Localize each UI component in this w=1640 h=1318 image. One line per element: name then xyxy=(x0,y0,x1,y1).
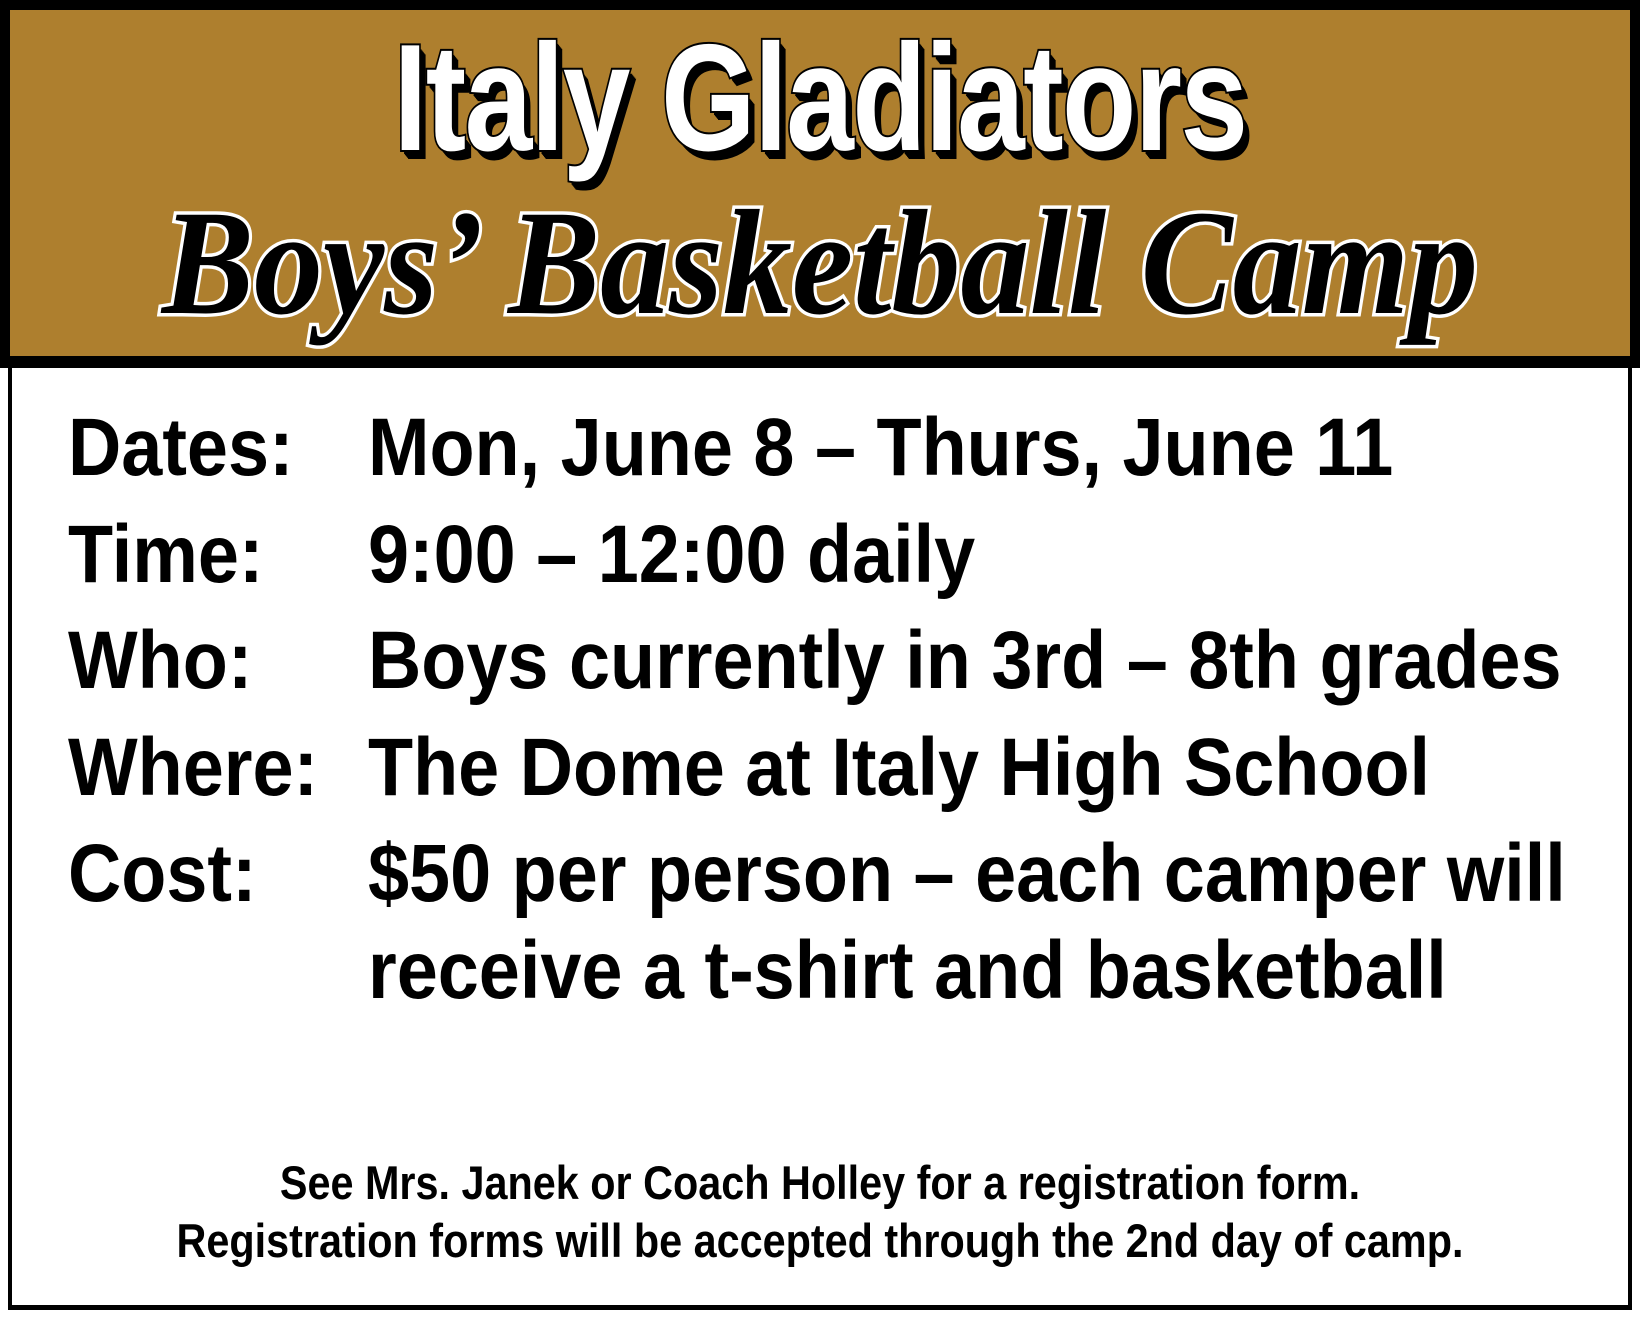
header-band: Italy Gladiators Boys’ Basketball Camp xyxy=(0,0,1640,368)
poster-title-main: Italy Gladiators xyxy=(172,22,1468,174)
detail-label-where: Where: xyxy=(68,724,338,813)
detail-row-where: Where: The Dome at Italy High School xyxy=(68,724,1598,813)
footnote-registration-contact: See Mrs. Janek or Coach Holley for a reg… xyxy=(109,1154,1531,1213)
poster-title-sub: Boys’ Basketball Camp xyxy=(75,188,1565,338)
detail-row-who: Who: Boys currently in 3rd – 8th grades xyxy=(68,617,1598,706)
detail-value-time: 9:00 – 12:00 daily xyxy=(368,511,1475,600)
camp-flyer-poster: Italy Gladiators Boys’ Basketball Camp D… xyxy=(0,0,1640,1318)
detail-row-cost: Cost: $50 per person – each camper will xyxy=(68,830,1598,919)
detail-value-cost-continued: receive a t-shirt and basketball xyxy=(368,927,1475,1016)
detail-label-who: Who: xyxy=(68,617,338,706)
details-list: Dates: Mon, June 8 – Thurs, June 11 Time… xyxy=(68,404,1598,1015)
body-panel: Dates: Mon, June 8 – Thurs, June 11 Time… xyxy=(8,368,1632,1310)
detail-row-time: Time: 9:00 – 12:00 daily xyxy=(68,511,1598,600)
detail-value-cost: $50 per person – each camper will xyxy=(368,830,1566,919)
detail-label-time: Time: xyxy=(68,511,338,600)
detail-value-dates: Mon, June 8 – Thurs, June 11 xyxy=(368,404,1475,493)
detail-label-cost: Cost: xyxy=(68,830,338,919)
detail-value-where: The Dome at Italy High School xyxy=(368,724,1475,813)
footnotes: See Mrs. Janek or Coach Holley for a reg… xyxy=(12,1154,1628,1272)
detail-label-dates: Dates: xyxy=(68,404,338,493)
detail-row-dates: Dates: Mon, June 8 – Thurs, June 11 xyxy=(68,404,1598,493)
footnote-registration-deadline: Registration forms will be accepted thro… xyxy=(109,1212,1531,1271)
detail-value-who: Boys currently in 3rd – 8th grades xyxy=(368,617,1561,706)
